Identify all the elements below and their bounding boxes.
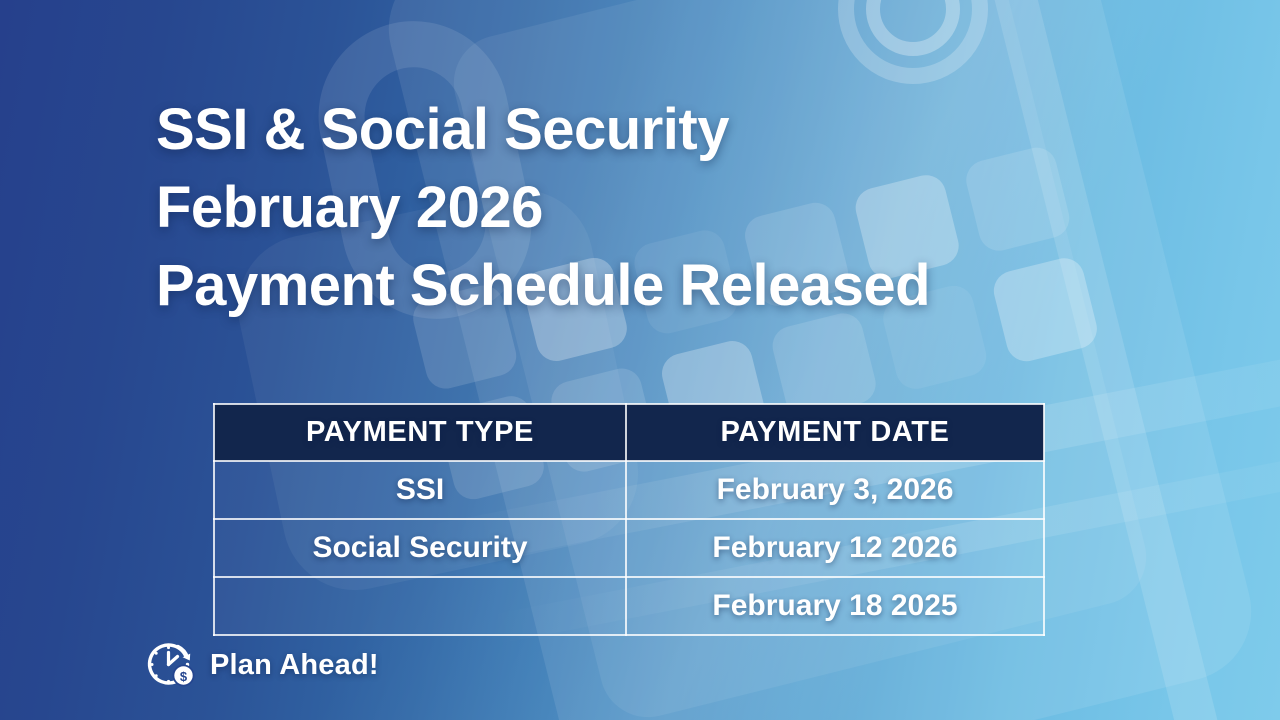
- cell-payment-date: February 18 2025: [626, 577, 1044, 635]
- table-row: SSI February 3, 2026: [214, 461, 1044, 519]
- cell-payment-type: [214, 577, 626, 635]
- clock-money-icon: $: [144, 640, 198, 690]
- page-title-line-3: Payment Schedule Released: [156, 247, 1156, 325]
- plan-ahead-badge: $ Plan Ahead!: [144, 640, 379, 690]
- cell-payment-date: February 12 2026: [626, 519, 1044, 577]
- table-header-row: PAYMENT TYPE PAYMENT DATE: [214, 404, 1044, 461]
- banner-graphic: SSI & Social Security February 2026 Paym…: [0, 0, 1280, 720]
- page-title-line-1: SSI & Social Security: [156, 91, 1156, 169]
- cell-payment-type: Social Security: [214, 519, 626, 577]
- table-row: February 18 2025: [214, 577, 1044, 635]
- cell-payment-type: SSI: [214, 461, 626, 519]
- page-title: SSI & Social Security February 2026 Paym…: [156, 91, 1156, 325]
- cell-payment-date: February 3, 2026: [626, 461, 1044, 519]
- column-header-payment-date: PAYMENT DATE: [626, 404, 1044, 461]
- svg-text:$: $: [180, 669, 188, 684]
- page-title-line-2: February 2026: [156, 169, 1156, 247]
- table-row: Social Security February 12 2026: [214, 519, 1044, 577]
- column-header-payment-type: PAYMENT TYPE: [214, 404, 626, 461]
- plan-ahead-label: Plan Ahead!: [210, 649, 379, 682]
- payment-schedule-table: PAYMENT TYPE PAYMENT DATE SSI February 3…: [213, 403, 1045, 636]
